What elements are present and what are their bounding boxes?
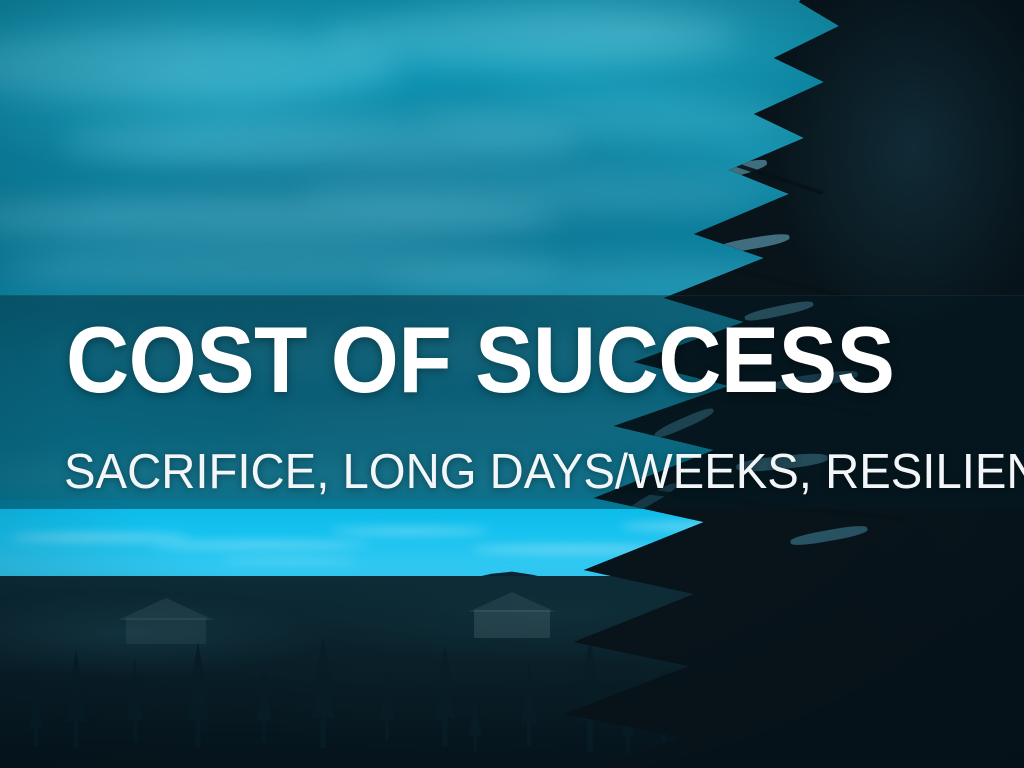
slide-subtitle: SACRIFICE, LONG DAYS/WEEKS, RESILIENCE [64, 446, 990, 498]
slide-title: COST OF SUCCESS [66, 312, 903, 408]
presentation-slide: COST OF SUCCESS SACRIFICE, LONG DAYS/WEE… [0, 0, 1024, 768]
